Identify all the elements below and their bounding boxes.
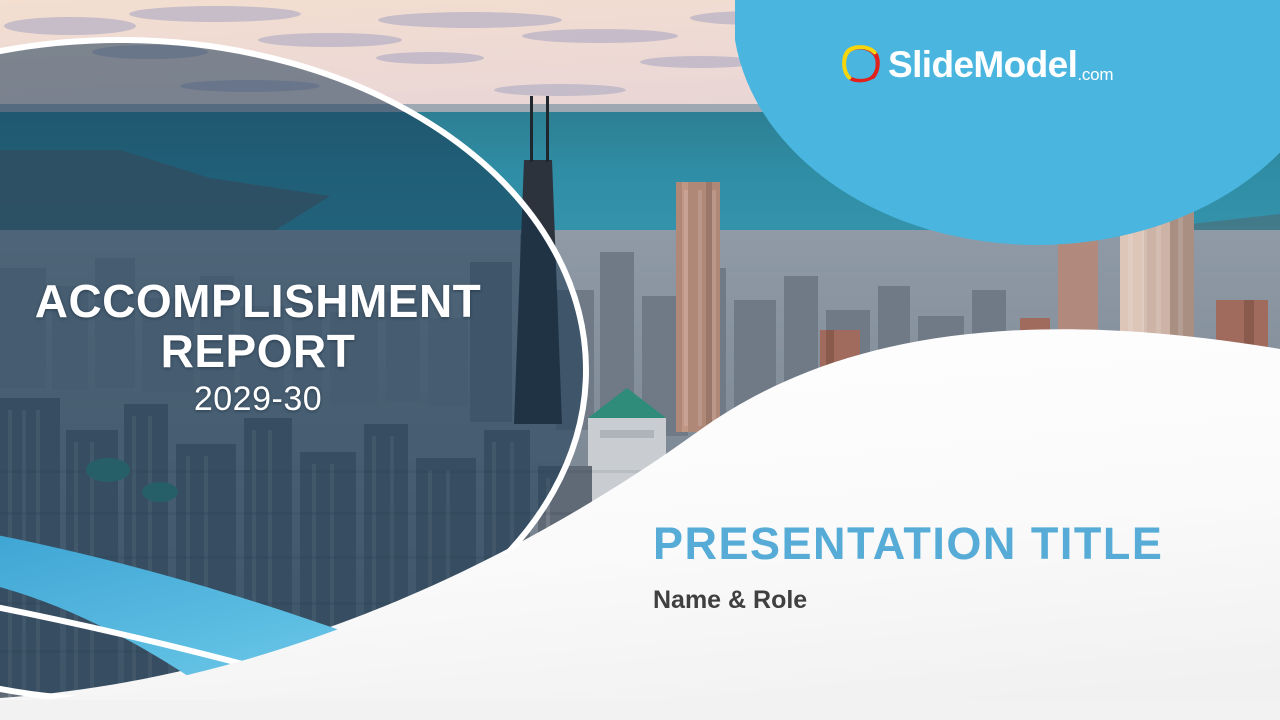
slidemodel-logo[interactable]: SlideModel .com xyxy=(838,40,1113,88)
presenter-name-role[interactable]: Name & Role xyxy=(653,584,1163,616)
logo-wordmark: SlideModel xyxy=(888,46,1077,83)
slidemodel-mark-icon xyxy=(838,41,884,87)
slide-floor xyxy=(0,700,1280,720)
presentation-slide: SlideModel .com ACCOMPLISHMENT REPORT 20… xyxy=(0,0,1280,720)
logo-tld: .com xyxy=(1077,66,1113,88)
footer-title-block: PRESENTATION TITLE Name & Role xyxy=(653,518,1163,616)
presentation-title[interactable]: PRESENTATION TITLE xyxy=(653,518,1163,570)
